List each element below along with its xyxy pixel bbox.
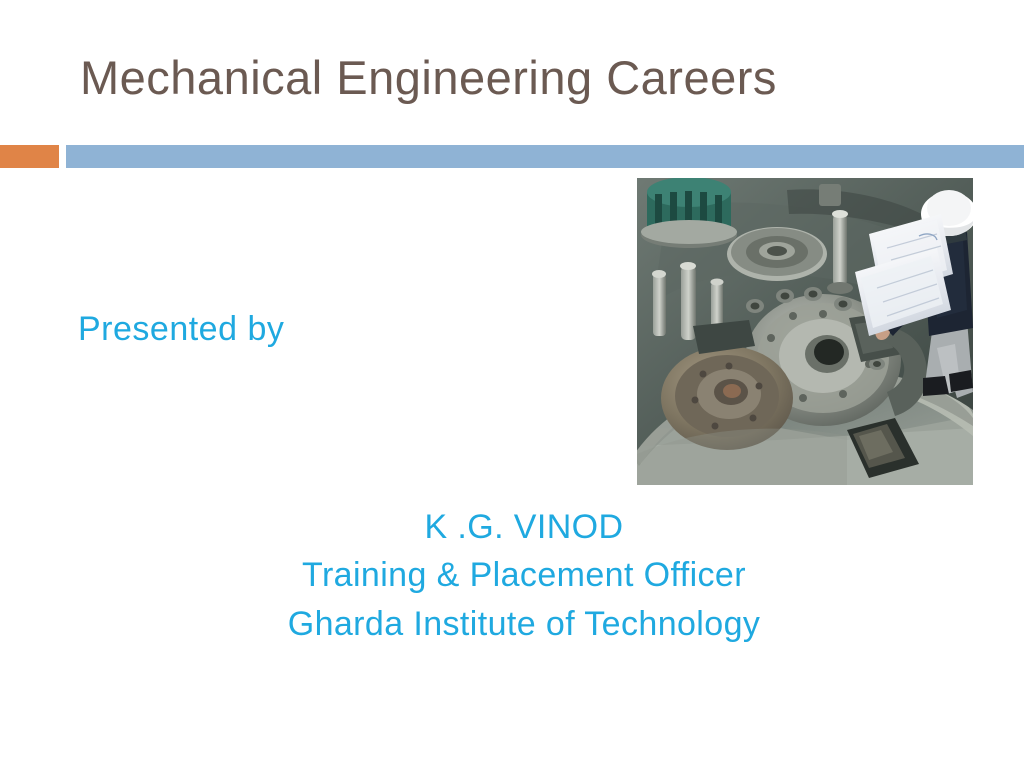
slide-title: Mechanical Engineering Careers <box>80 52 960 105</box>
presenter-details: K .G. VINOD Training & Placement Officer… <box>190 503 858 648</box>
presenter-designation: Training & Placement Officer <box>190 551 858 599</box>
title-divider <box>0 145 1024 168</box>
presenter-organization: Gharda Institute of Technology <box>190 600 858 648</box>
engineering-photo <box>637 178 973 485</box>
divider-accent-block <box>0 145 59 168</box>
divider-blue-bar <box>66 145 1024 168</box>
presented-by-label: Presented by <box>78 310 284 349</box>
green-motor <box>641 178 737 248</box>
presenter-name: K .G. VINOD <box>190 503 858 551</box>
flange-ring-upper <box>727 227 827 281</box>
presentation-slide: Mechanical Engineering Careers Presented… <box>0 0 1024 768</box>
photo-illustration <box>637 178 973 485</box>
